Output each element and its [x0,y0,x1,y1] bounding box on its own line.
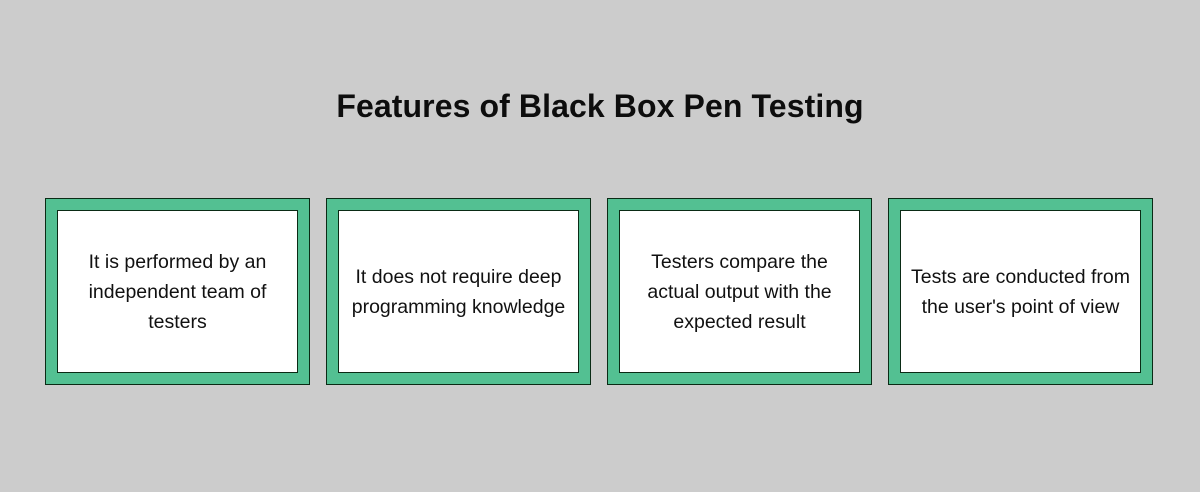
slide-canvas: Features of Black Box Pen Testing It is … [0,0,1200,492]
feature-card-3-text: Testers compare the actual output with t… [630,247,849,337]
feature-card-3-inner: Testers compare the actual output with t… [619,210,860,373]
feature-card-2-inner: It does not require deep programming kno… [338,210,579,373]
feature-card-2[interactable]: It does not require deep programming kno… [326,198,591,385]
feature-card-4-inner: Tests are conducted from the user's poin… [900,210,1141,373]
feature-card-row: It is performed by an independent team o… [45,198,1153,385]
feature-card-1-inner: It is performed by an independent team o… [57,210,298,373]
feature-card-4-text: Tests are conducted from the user's poin… [911,262,1130,322]
feature-card-1[interactable]: It is performed by an independent team o… [45,198,310,385]
feature-card-1-text: It is performed by an independent team o… [68,247,287,337]
feature-card-3[interactable]: Testers compare the actual output with t… [607,198,872,385]
feature-card-2-text: It does not require deep programming kno… [349,262,568,322]
page-title: Features of Black Box Pen Testing [0,84,1200,128]
feature-card-4[interactable]: Tests are conducted from the user's poin… [888,198,1153,385]
